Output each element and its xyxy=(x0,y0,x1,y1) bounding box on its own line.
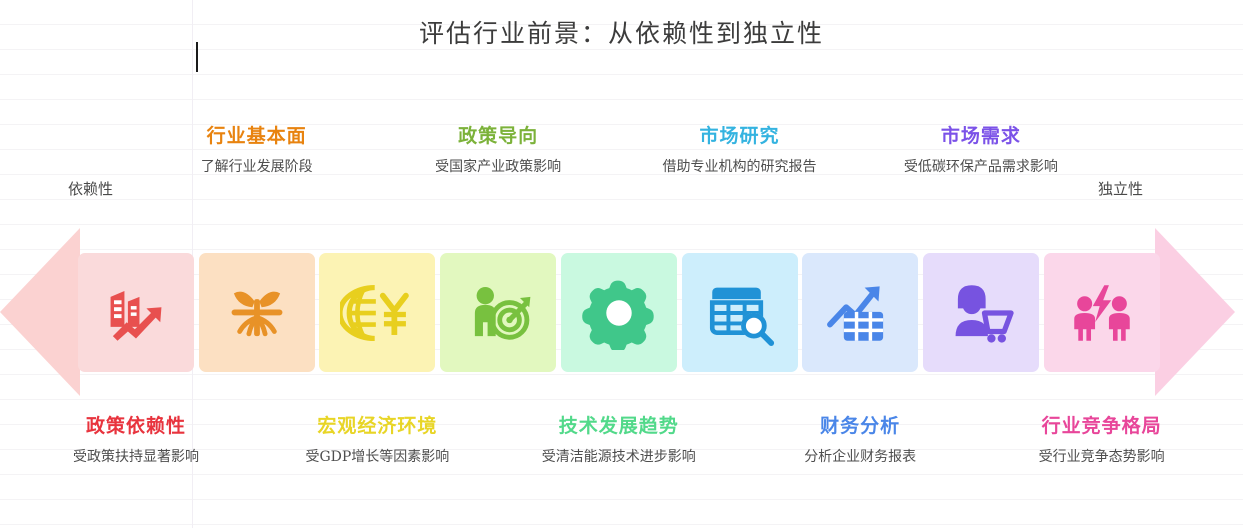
gear-icon xyxy=(582,276,656,350)
callout-below-2-headline: 宏观经济环境 xyxy=(282,416,472,438)
globe-yen-icon xyxy=(340,276,414,350)
chart-growth-icon xyxy=(823,276,897,350)
infographic-canvas: 评估行业前景：从依赖性到独立性 依赖性 独立性 行业基本面了解行业发展阶段政策导… xyxy=(0,0,1243,528)
callout-above-1-description: 了解行业发展阶段 xyxy=(162,157,352,178)
callout-below-4[interactable]: 财务分析分析企业财务报表 xyxy=(765,416,955,468)
callout-above-4-headline: 市场需求 xyxy=(886,126,1076,148)
callout-below-3[interactable]: 技术发展趋势受清洁能源技术进步影响 xyxy=(524,416,714,468)
callout-below-2-description: 受GDP增长等因素影响 xyxy=(282,447,472,468)
icon-tile-8[interactable] xyxy=(923,253,1039,372)
callout-above-2[interactable]: 政策导向受国家产业政策影响 xyxy=(403,126,593,178)
callout-below-1[interactable]: 政策依赖性受政策扶持显著影响 xyxy=(41,416,231,468)
callout-below-4-headline: 财务分析 xyxy=(765,416,955,438)
axis-left-label: 依赖性 xyxy=(68,178,113,199)
icon-tile-5[interactable] xyxy=(561,253,677,372)
callout-below-5-description: 受行业竞争态势影响 xyxy=(1007,447,1197,468)
callout-above-4[interactable]: 市场需求受低碳环保产品需求影响 xyxy=(886,126,1076,178)
callout-below-5-headline: 行业竞争格局 xyxy=(1007,416,1197,438)
callout-above-3[interactable]: 市场研究借助专业机构的研究报告 xyxy=(645,126,835,178)
callout-below-5[interactable]: 行业竞争格局受行业竞争态势影响 xyxy=(1007,416,1197,468)
person-target-icon xyxy=(461,276,535,350)
callout-below-3-description: 受清洁能源技术进步影响 xyxy=(524,447,714,468)
callout-below-4-description: 分析企业财务报表 xyxy=(765,447,955,468)
icon-tile-6[interactable] xyxy=(682,253,798,372)
callout-below-2[interactable]: 宏观经济环境受GDP增长等因素影响 xyxy=(282,416,472,468)
callout-below-1-description: 受政策扶持显著影响 xyxy=(41,447,231,468)
callout-above-3-headline: 市场研究 xyxy=(645,126,835,148)
callout-above-1-headline: 行业基本面 xyxy=(162,126,352,148)
shopper-cart-icon xyxy=(944,276,1018,350)
competition-icon xyxy=(1065,276,1139,350)
callout-above-4-description: 受低碳环保产品需求影响 xyxy=(886,157,1076,178)
callout-below-1-headline: 政策依赖性 xyxy=(41,416,231,438)
page-title: 评估行业前景：从依赖性到独立性 xyxy=(0,14,1243,50)
icon-tile-7[interactable] xyxy=(802,253,918,372)
callout-above-2-headline: 政策导向 xyxy=(403,126,593,148)
axis-right-label: 独立性 xyxy=(1098,178,1143,199)
icon-tile-1[interactable] xyxy=(78,253,194,372)
sprout-roots-icon xyxy=(220,276,294,350)
callout-below-3-headline: 技术发展趋势 xyxy=(524,416,714,438)
callout-above-3-description: 借助专业机构的研究报告 xyxy=(645,157,835,178)
table-search-icon xyxy=(703,276,777,350)
icon-tile-2[interactable] xyxy=(199,253,315,372)
icon-tile-3[interactable] xyxy=(319,253,435,372)
icon-tile-9[interactable] xyxy=(1044,253,1160,372)
right-arrow-head xyxy=(1155,228,1235,396)
left-arrow-head xyxy=(0,228,80,396)
buildings-growth-icon xyxy=(99,276,173,350)
callout-above-1[interactable]: 行业基本面了解行业发展阶段 xyxy=(162,126,352,178)
icon-tile-4[interactable] xyxy=(440,253,556,372)
callout-above-2-description: 受国家产业政策影响 xyxy=(403,157,593,178)
